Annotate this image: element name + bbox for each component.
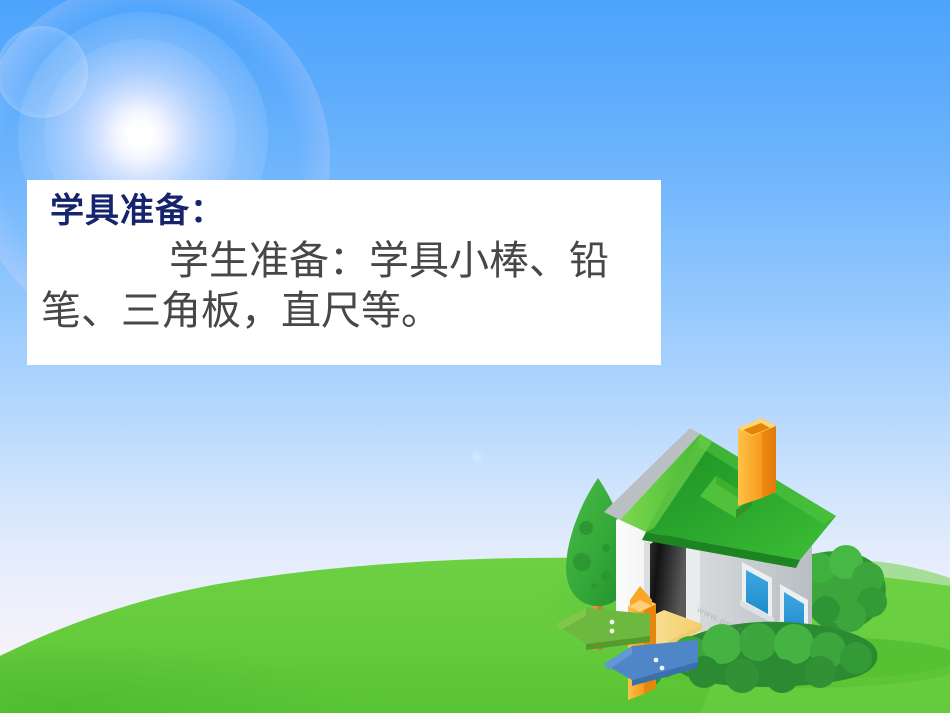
content-textbox[interactable]: 学具准备： 学生准备：学具小棒、铅笔、三角板，直尺等。	[27, 180, 661, 365]
body-line-1: 学生准备：学具小	[169, 238, 489, 283]
presentation-slide: www.ppt.cn 学具准备： 学生准备：学具小棒、铅笔、三角板，直尺等。	[0, 0, 950, 713]
textbox-title: 学具准备：	[50, 190, 647, 234]
textbox-body: 学生准备：学具小棒、铅笔、三角板，直尺等。	[41, 236, 647, 336]
